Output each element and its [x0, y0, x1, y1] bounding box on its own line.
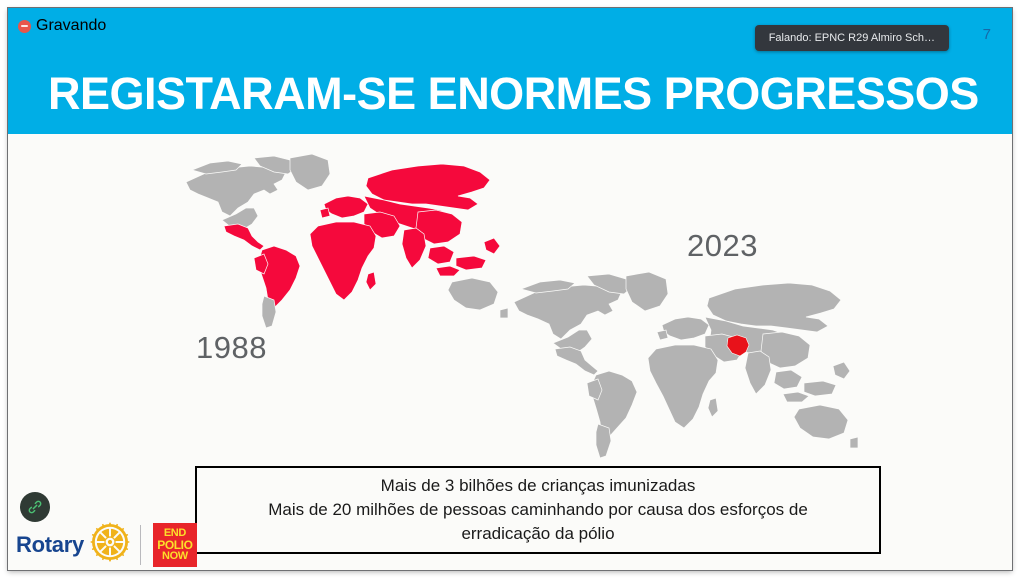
world-map-1988 — [178, 150, 508, 332]
recording-icon — [18, 20, 31, 33]
slide-frame: Gravando Falando: EPNC R29 Almiro Sch… 7… — [8, 8, 1012, 570]
recording-indicator: Gravando — [18, 17, 106, 35]
callout-line-3: erradicação da pólio — [268, 522, 808, 546]
end-polio-line-1: END — [164, 528, 186, 539]
slide-title: REGISTARAM-SE ENORMES PROGRESSOS — [48, 68, 979, 120]
slide-header-band: Gravando Falando: EPNC R29 Almiro Sch… 7… — [8, 8, 1012, 134]
logo-divider — [140, 525, 141, 565]
rotary-logo: Rotary — [16, 522, 197, 567]
year-label-1988: 1988 — [196, 330, 267, 366]
slide-body: 1988 — [8, 134, 1012, 570]
rotary-wheel-icon — [90, 522, 130, 567]
end-polio-line-2: POLIO — [157, 539, 192, 551]
year-label-2023: 2023 — [687, 228, 758, 264]
link-icon[interactable] — [20, 492, 50, 522]
world-map-2023 — [506, 268, 858, 462]
callout-line-1: Mais de 3 bilhões de crianças imunizadas — [268, 474, 808, 498]
recording-label: Gravando — [36, 17, 106, 35]
callout-box: Mais de 3 bilhões de crianças imunizadas… — [195, 466, 881, 554]
active-speaker-badge: Falando: EPNC R29 Almiro Sch… — [755, 25, 949, 51]
end-polio-now-logo: END POLIO NOW — [153, 523, 197, 567]
presentation-viewer: Gravando Falando: EPNC R29 Almiro Sch… 7… — [0, 0, 1024, 581]
callout-line-2: Mais de 20 milhões de pessoas caminhando… — [268, 498, 808, 522]
end-polio-line-3: NOW — [162, 551, 188, 562]
slide-page-number: 7 — [983, 26, 991, 43]
rotary-wordmark: Rotary — [16, 532, 84, 558]
callout-text: Mais de 3 bilhões de crianças imunizadas… — [260, 474, 816, 545]
